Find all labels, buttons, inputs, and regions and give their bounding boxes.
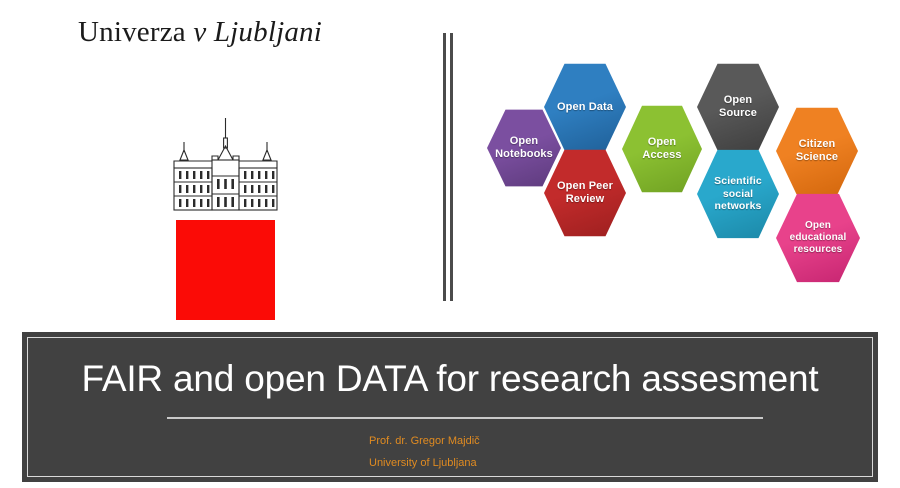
page-title: FAIR and open DATA for research assesmen… <box>22 358 878 400</box>
hexagon-label-line: networks <box>710 200 766 212</box>
hexagon-open-notebooks[interactable]: OpenNotebooks <box>487 108 561 188</box>
hexagon-label: OpenNotebooks <box>491 135 557 161</box>
double-vertical-rule <box>443 33 455 301</box>
hexagon-label-line: Scientific <box>710 175 766 187</box>
hexagon-label-line: Notebooks <box>491 148 557 161</box>
divider-line-right <box>450 33 453 301</box>
ul-building-icon <box>168 116 283 220</box>
hexagon-label-line: social <box>710 188 766 200</box>
hexagon-label: Openeducationalresources <box>786 220 851 255</box>
hexagon-open-educational-resources[interactable]: Openeducationalresources <box>776 192 860 284</box>
hexagon-label-line: Open Peer <box>553 180 617 193</box>
hexagon-open-access[interactable]: OpenAccess <box>622 104 702 194</box>
banner-subtitle-group: Prof. dr. Gregor MajdičUniversity of Lju… <box>369 430 480 474</box>
hexagon-label-line: resources <box>786 244 851 256</box>
presentation-slide: Univerza v Ljubljani <box>0 0 900 488</box>
hexagon-label-line: Open <box>715 94 761 107</box>
divider-line-left <box>443 33 446 301</box>
hexagon-label: Scientificsocialnetworks <box>710 175 766 212</box>
banner-subtitle-line-1: Prof. dr. Gregor Majdič <box>369 430 480 452</box>
hexagon-label: Open PeerReview <box>553 180 617 206</box>
open-science-hexagon-diagram: OpenNotebooksOpen DataOpen PeerReviewOpe… <box>482 56 882 296</box>
hexagon-label-line: Science <box>792 151 842 164</box>
ul-logo-red-block <box>176 220 275 320</box>
hexagon-label-line: Open Data <box>553 101 617 114</box>
hexagon-label-line: Open <box>491 135 557 148</box>
hexagon-label-line: Open <box>786 220 851 232</box>
hexagon-label-line: Citizen <box>792 138 842 151</box>
hexagon-open-peer-review[interactable]: Open PeerReview <box>544 148 626 238</box>
hexagon-label: Open Data <box>553 101 617 114</box>
hexagon-scientific-social-networks[interactable]: Scientificsocialnetworks <box>697 148 779 240</box>
hexagon-label-line: Access <box>638 149 685 162</box>
wordmark-regular: Univerza <box>78 16 186 48</box>
hexagon-open-source[interactable]: OpenSource <box>697 62 779 152</box>
university-wordmark: Univerza v Ljubljani <box>78 16 322 49</box>
hexagon-label-line: Source <box>715 107 761 120</box>
university-of-ljubljana-logo <box>168 116 283 322</box>
hexagon-label-line: Open <box>638 136 685 149</box>
hexagon-label: CitizenScience <box>792 138 842 164</box>
hexagon-label: OpenAccess <box>638 136 685 162</box>
title-banner: FAIR and open DATA for research assesmen… <box>22 332 878 482</box>
wordmark-italic: v Ljubljani <box>193 16 322 48</box>
hexagon-label-line: educational <box>786 232 851 244</box>
hexagon-citizen-science[interactable]: CitizenScience <box>776 106 858 196</box>
banner-divider-rule <box>167 417 763 419</box>
banner-subtitle-line-2: University of Ljubljana <box>369 452 480 474</box>
hexagon-label-line: Review <box>553 193 617 206</box>
hexagon-label: OpenSource <box>715 94 761 120</box>
